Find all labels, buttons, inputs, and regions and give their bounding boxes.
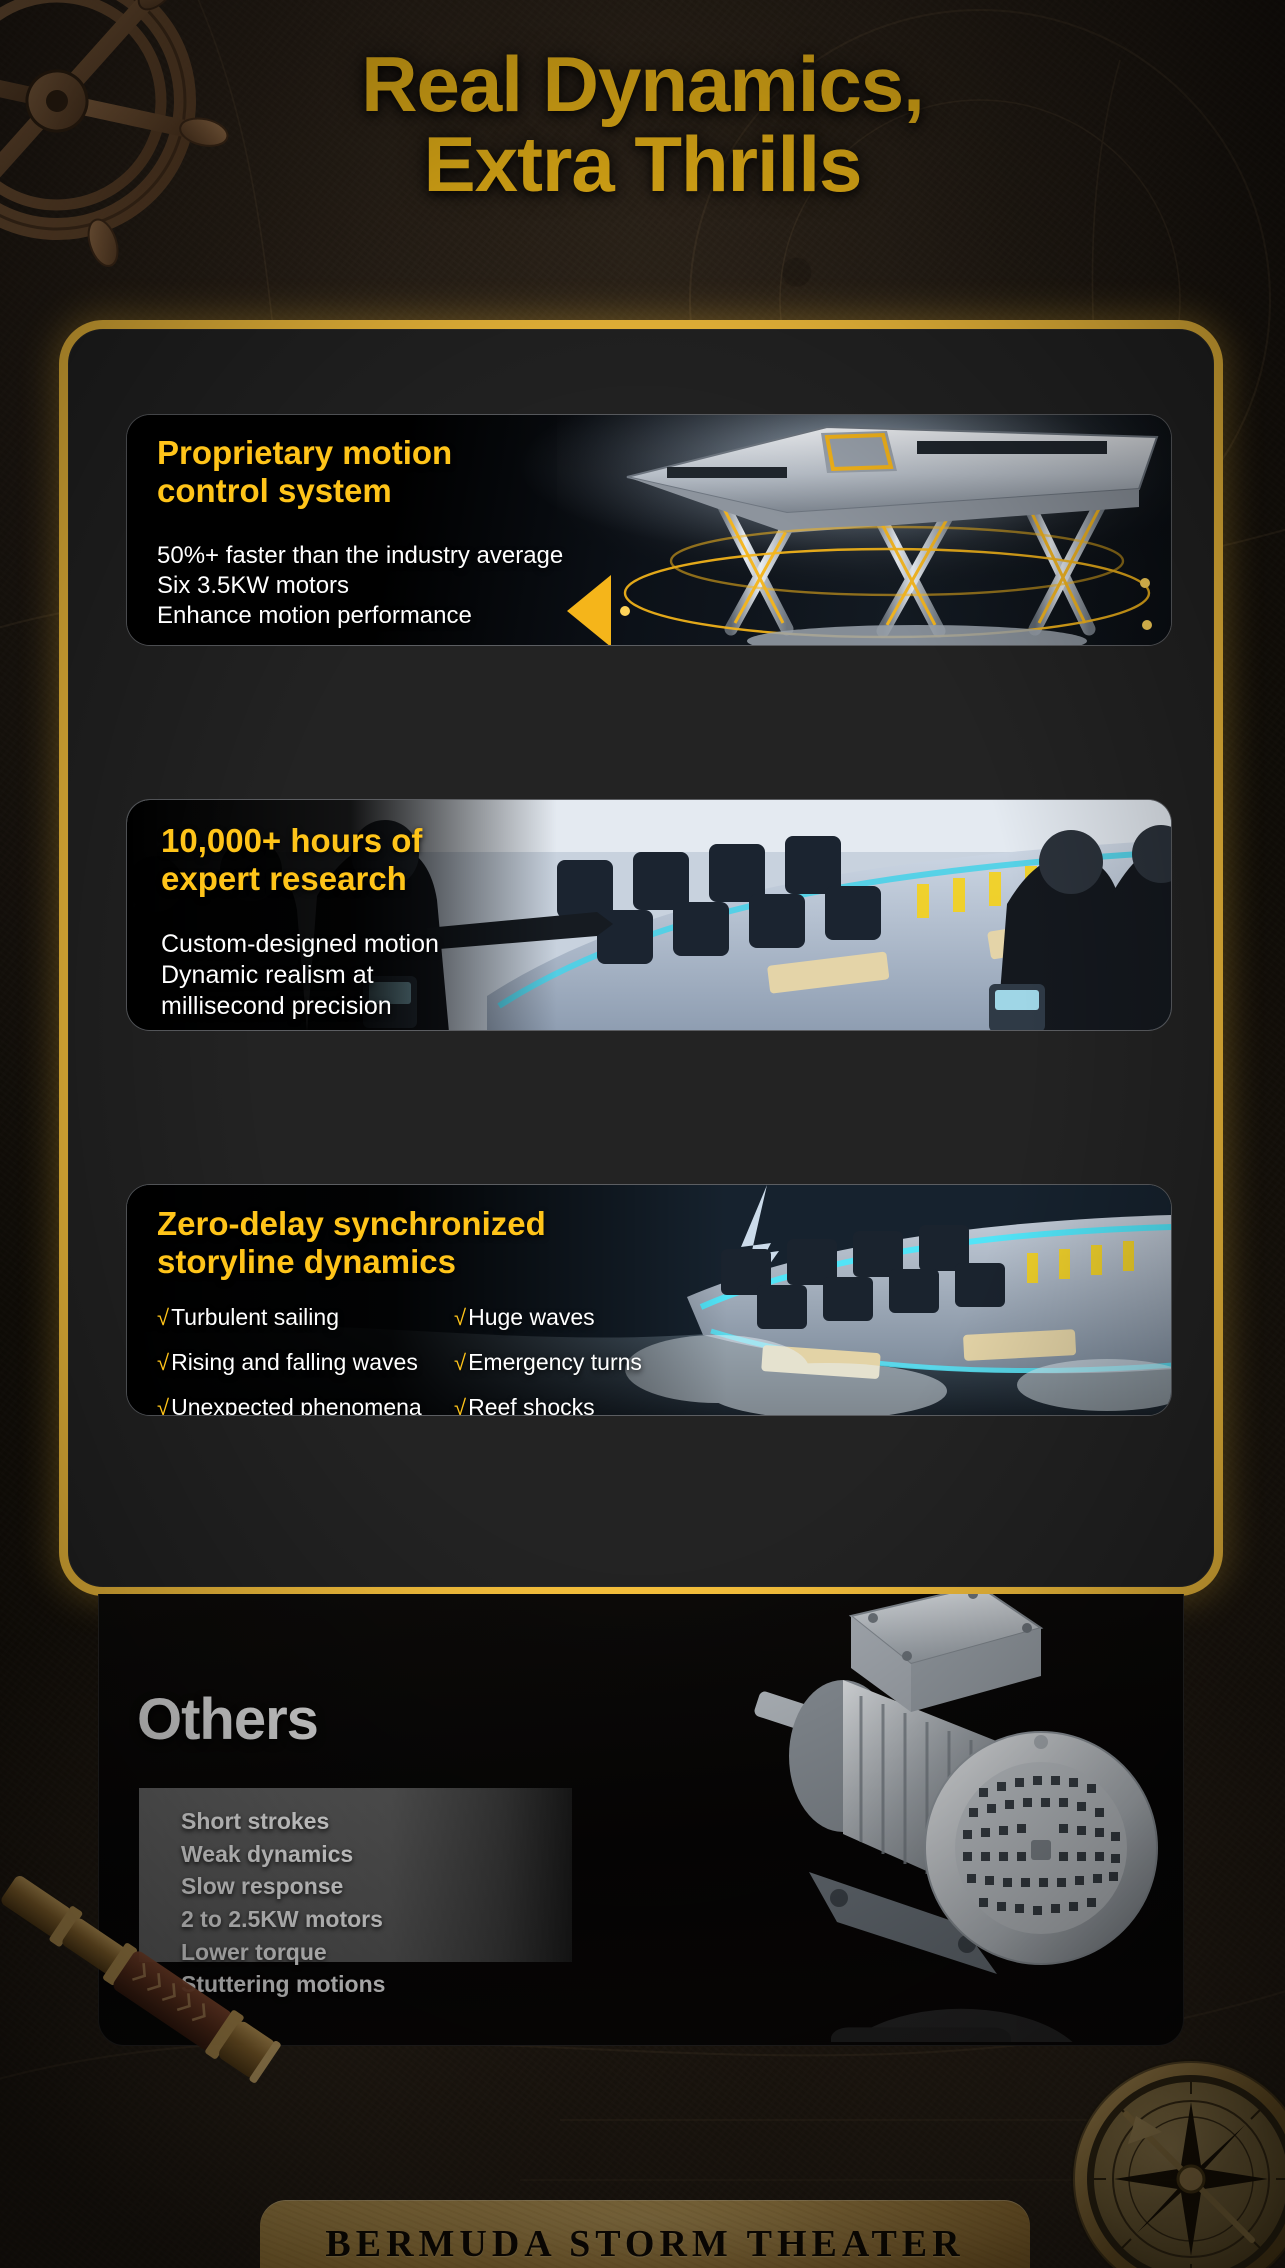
- dynamics-checklist: √Turbulent sailing √Huge waves √Rising a…: [127, 1304, 1171, 1416]
- checklist-item: √Rising and falling waves: [157, 1349, 454, 1376]
- check-icon: √: [454, 1305, 466, 1331]
- check-icon: √: [157, 1350, 169, 1376]
- page-title: Real Dynamics, Extra Thrills: [0, 44, 1285, 205]
- card-title: Proprietary motion control system: [157, 434, 1171, 511]
- card-body: 50%+ faster than the industry average Si…: [157, 541, 1171, 631]
- checklist-item: √Huge waves: [454, 1304, 1171, 1331]
- headline-line-1: Real Dynamics,: [361, 40, 924, 128]
- feature-card-storyline-dynamics[interactable]: Zero-delay synchronized storyline dynami…: [126, 1184, 1172, 1416]
- others-title: Others: [137, 1686, 318, 1753]
- checklist-label: Emergency turns: [468, 1349, 642, 1376]
- check-icon: √: [157, 1305, 169, 1331]
- brass-compass-icon: [1066, 2054, 1285, 2268]
- checklist-label: Unexpected phenomena: [171, 1394, 422, 1416]
- industrial-electric-motor-photo: [711, 1594, 1181, 2042]
- feature-card-expert-research[interactable]: 10,000+ hours of expert research Custom-…: [126, 799, 1172, 1031]
- others-item: Short strokes: [181, 1805, 572, 1838]
- checklist-item: √Unexpected phenomena: [157, 1394, 454, 1416]
- card-body: Custom-designed motion Dynamic realism a…: [161, 929, 1171, 1023]
- bottom-brand-banner: BERMUDA STORM THEATER: [260, 2200, 1030, 2268]
- checklist-label: Rising and falling waves: [171, 1349, 418, 1376]
- checklist-label: Reef shocks: [468, 1394, 595, 1416]
- check-icon: √: [157, 1395, 169, 1416]
- headline-line-2: Extra Thrills: [0, 124, 1285, 204]
- checklist-item: √Reef shocks: [454, 1394, 1171, 1416]
- checklist-label: Huge waves: [468, 1304, 595, 1331]
- card-title: 10,000+ hours of expert research: [161, 822, 1171, 899]
- check-icon: √: [454, 1395, 466, 1416]
- features-panel: Proprietary motion control system 50%+ f…: [59, 320, 1223, 1596]
- feature-card-motion-control[interactable]: Proprietary motion control system 50%+ f…: [126, 414, 1172, 646]
- brass-spyglass-icon: [0, 1850, 298, 2100]
- banner-title: BERMUDA STORM THEATER: [260, 2222, 1030, 2266]
- checklist-item: √Turbulent sailing: [157, 1304, 454, 1331]
- check-icon: √: [454, 1350, 466, 1376]
- checklist-label: Turbulent sailing: [171, 1304, 339, 1331]
- checklist-item: √Emergency turns: [454, 1349, 1171, 1376]
- poster-page: Real Dynamics, Extra Thrills: [0, 0, 1285, 2268]
- card-title: Zero-delay synchronized storyline dynami…: [157, 1205, 1171, 1282]
